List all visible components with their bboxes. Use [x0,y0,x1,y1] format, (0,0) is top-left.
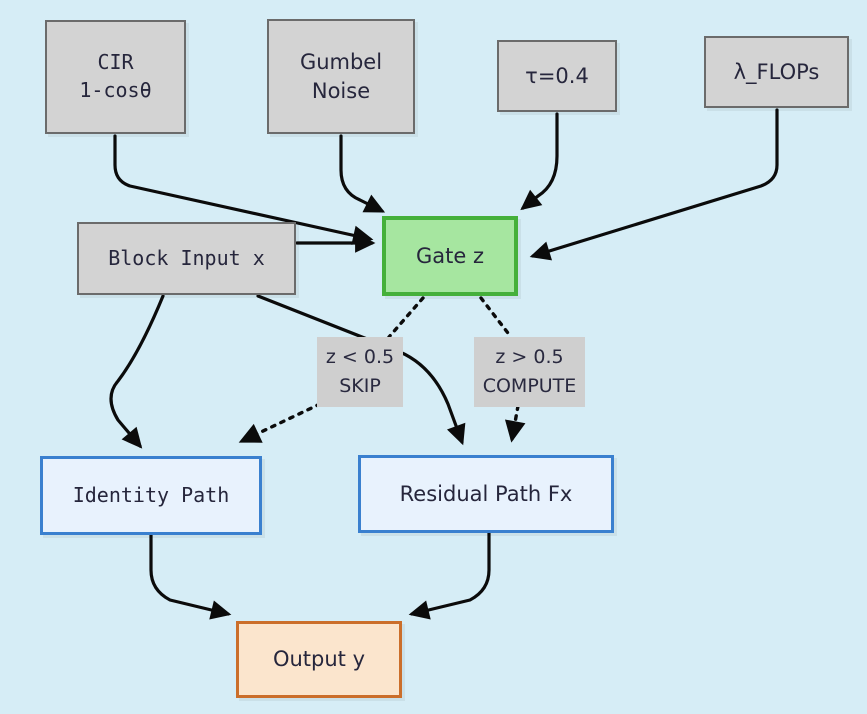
edge-gate-to-residual-lower [512,406,518,439]
node-gumbel-noise[interactable]: Gumbel Noise [267,19,415,134]
node-residual-path-label: Residual Path Fx [400,480,573,509]
edge-label-skip-action: SKIP [339,372,381,401]
flowchart-canvas: CIR 1-cosθ Gumbel Noise τ=0.4 λ_FLOPs Bl… [0,0,867,714]
edge-gate-to-identity-upper [389,298,423,337]
edge-residual-to-output [412,533,489,614]
edge-label-compute-condition: z > 0.5 [495,343,563,372]
edge-label-skip-condition: z < 0.5 [326,343,394,372]
node-identity-path[interactable]: Identity Path [40,456,262,535]
edge-label-skip: z < 0.5 SKIP [317,337,403,407]
node-cir-line2: 1-cosθ [79,77,151,105]
node-tau-label: τ=0.4 [525,62,589,91]
node-block-input-label: Block Input x [108,245,265,273]
node-tau[interactable]: τ=0.4 [497,40,617,112]
node-cir-line1: CIR [97,49,133,77]
node-gate-label: Gate z [416,242,484,271]
node-lambda-label: λ_FLOPs [734,58,820,87]
node-output-label: Output y [273,645,365,674]
node-cir[interactable]: CIR 1-cosθ [45,20,186,134]
node-gumbel-line1: Gumbel [300,48,382,77]
edge-label-compute: z > 0.5 COMPUTE [474,337,585,407]
node-lambda-flops[interactable]: λ_FLOPs [704,36,849,108]
edge-gate-to-identity-lower [242,404,320,441]
node-gate-z[interactable]: Gate z [382,216,518,296]
edge-label-compute-action: COMPUTE [483,372,577,401]
node-residual-path[interactable]: Residual Path Fx [358,455,614,533]
edge-gumbel-to-gate [341,136,382,211]
edge-input-to-identity [111,296,163,446]
node-identity-path-label: Identity Path [73,482,230,510]
node-output-y[interactable]: Output y [236,621,402,698]
edge-lambda-to-gate [533,110,777,256]
node-block-input[interactable]: Block Input x [77,222,296,295]
edge-tau-to-gate [523,114,557,208]
edge-identity-to-output [151,535,228,614]
node-gumbel-line2: Noise [312,77,370,106]
edge-gate-to-residual-upper [481,298,511,337]
